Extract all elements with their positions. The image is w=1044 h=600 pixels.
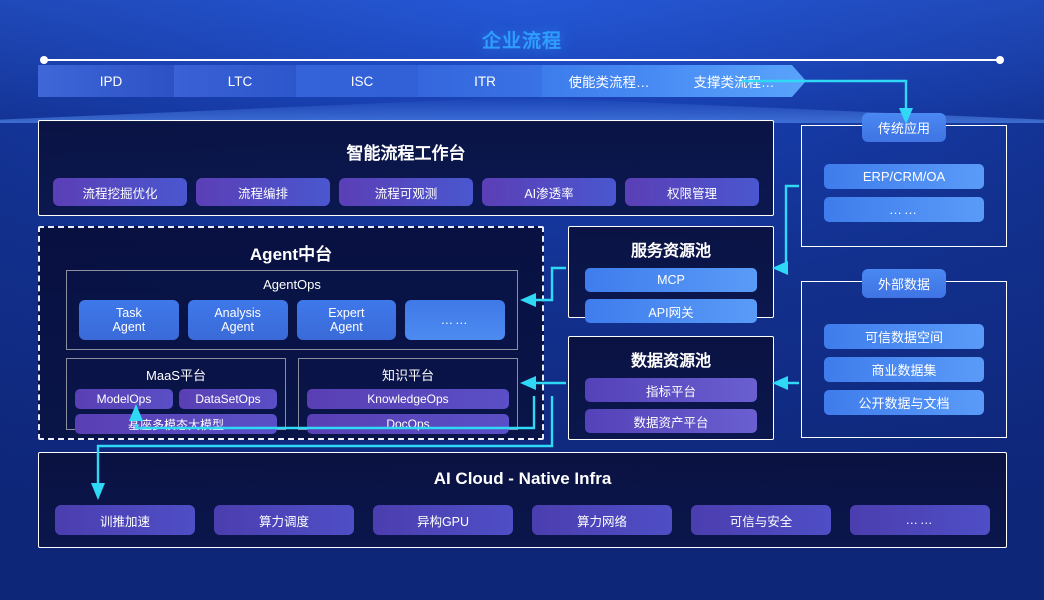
workbench-pill-row: 流程挖掘优化 流程编排 流程可观测 AI渗透率 权限管理 (39, 178, 773, 206)
agent-hub-title: Agent中台 (40, 240, 542, 265)
infra-pill-compute-network[interactable]: 算力网络 (532, 505, 672, 535)
service-pool-item-mcp[interactable]: MCP (585, 268, 757, 292)
arrowhead-service-pool (772, 261, 788, 275)
agentops-card-row: Task Agent Analysis Agent Expert Agent …… (67, 300, 517, 340)
agent-card-expert-line2: Agent (330, 320, 363, 334)
arrowhead-data-pool (772, 376, 788, 390)
service-pool-title: 服务资源池 (569, 237, 773, 261)
external-data-item-public-docs[interactable]: 公开数据与文档 (824, 390, 984, 415)
knowledge-pill-knowledgeops[interactable]: KnowledgeOps (307, 389, 509, 409)
workbench-pill-ai-penetration[interactable]: AI渗透率 (482, 178, 616, 206)
workbench-pill-mining[interactable]: 流程挖掘优化 (53, 178, 187, 206)
legacy-apps-label: 传统应用 (862, 113, 946, 142)
data-pool-panel: 数据资源池 指标平台 数据资产平台 (568, 336, 774, 440)
knowledge-box: 知识平台 KnowledgeOps DocOps (298, 358, 518, 430)
agent-hub-panel: Agent中台 AgentOps Task Agent Analysis Age… (38, 226, 544, 440)
maas-pill-datasetops[interactable]: DataSetOps (179, 389, 277, 409)
infra-pill-row: 训推加速 算力调度 异构GPU 算力网络 可信与安全 …… (39, 505, 1006, 535)
infra-pill-more[interactable]: …… (850, 505, 990, 535)
external-data-list: 可信数据空间 商业数据集 公开数据与文档 (802, 282, 1006, 415)
maas-box: MaaS平台 ModelOps DataSetOps 基座多模态大模型 (66, 358, 286, 430)
process-rail (40, 57, 1004, 63)
maas-pill-modelops[interactable]: ModelOps (75, 389, 173, 409)
chevron-step-enabling[interactable]: 使能类流程… (542, 65, 680, 97)
infra-pill-training-accel[interactable]: 训推加速 (55, 505, 195, 535)
agent-card-expert[interactable]: Expert Agent (297, 300, 397, 340)
maas-title: MaaS平台 (67, 365, 285, 384)
process-chevron-bar: IPD LTC ISC ITR 使能类流程… 支撑类流程… (38, 65, 792, 97)
workbench-panel: 智能流程工作台 流程挖掘优化 流程编排 流程可观测 AI渗透率 权限管理 (38, 120, 774, 216)
external-data-label: 外部数据 (862, 269, 946, 298)
rail-dot-right (996, 56, 1004, 64)
chevron-step-ltc[interactable]: LTC (174, 65, 310, 97)
data-pool-item-metrics[interactable]: 指标平台 (585, 378, 757, 402)
service-pool-panel: 服务资源池 MCP API网关 (568, 226, 774, 318)
agent-card-analysis[interactable]: Analysis Agent (188, 300, 288, 340)
knowledge-title: 知识平台 (299, 365, 517, 384)
agent-card-more-label: …… (441, 313, 470, 327)
chevron-step-itr[interactable]: ITR (418, 65, 556, 97)
workbench-title: 智能流程工作台 (39, 139, 773, 164)
knowledge-pill-docops[interactable]: DocOps (307, 414, 509, 434)
external-data-item-commercial[interactable]: 商业数据集 (824, 357, 984, 382)
external-data-panel: 外部数据 可信数据空间 商业数据集 公开数据与文档 (801, 281, 1007, 438)
agent-card-more[interactable]: …… (405, 300, 505, 340)
data-pool-item-asset-platform[interactable]: 数据资产平台 (585, 409, 757, 433)
agent-card-analysis-line2: Agent (221, 320, 254, 334)
service-pool-item-api-gateway[interactable]: API网关 (585, 299, 757, 323)
workbench-pill-orchestration[interactable]: 流程编排 (196, 178, 330, 206)
infra-panel: AI Cloud - Native Infra 训推加速 算力调度 异构GPU … (38, 452, 1007, 548)
workbench-pill-permissions[interactable]: 权限管理 (625, 178, 759, 206)
workbench-pill-observability[interactable]: 流程可观测 (339, 178, 473, 206)
agent-card-analysis-line1: Analysis (214, 306, 261, 320)
legacy-apps-item-erp[interactable]: ERP/CRM/OA (824, 164, 984, 189)
chevron-step-supporting[interactable]: 支撑类流程… (666, 65, 806, 97)
chevron-step-isc[interactable]: ISC (296, 65, 432, 97)
rail-dot-left (40, 56, 48, 64)
diagram-canvas: 企业流程 IPD LTC ISC ITR 使能类流程… 支撑类流程… 智能流程工… (0, 0, 1044, 600)
legacy-apps-item-more[interactable]: …… (824, 197, 984, 222)
maas-row: ModelOps DataSetOps (67, 389, 285, 409)
agent-card-task-line1: Task (116, 306, 142, 320)
maas-pill-foundation-model[interactable]: 基座多模态大模型 (75, 414, 277, 434)
rail-line (43, 59, 1001, 61)
wire-legacy-to-service-pool (782, 186, 799, 268)
agentops-title: AgentOps (67, 277, 517, 292)
agent-card-expert-line1: Expert (328, 306, 364, 320)
infra-title: AI Cloud - Native Infra (39, 469, 1006, 489)
infra-pill-compute-scheduling[interactable]: 算力调度 (214, 505, 354, 535)
page-title: 企业流程 (0, 26, 1044, 53)
infra-pill-trust-security[interactable]: 可信与安全 (691, 505, 831, 535)
chevron-step-ipd[interactable]: IPD (38, 65, 188, 97)
agentops-box: AgentOps Task Agent Analysis Agent Exper… (66, 270, 518, 350)
agent-card-task[interactable]: Task Agent (79, 300, 179, 340)
agent-card-task-line2: Agent (113, 320, 146, 334)
infra-pill-heterogeneous-gpu[interactable]: 异构GPU (373, 505, 513, 535)
legacy-apps-panel: 传统应用 ERP/CRM/OA …… (801, 125, 1007, 247)
data-pool-title: 数据资源池 (569, 347, 773, 371)
external-data-item-trusted-space[interactable]: 可信数据空间 (824, 324, 984, 349)
